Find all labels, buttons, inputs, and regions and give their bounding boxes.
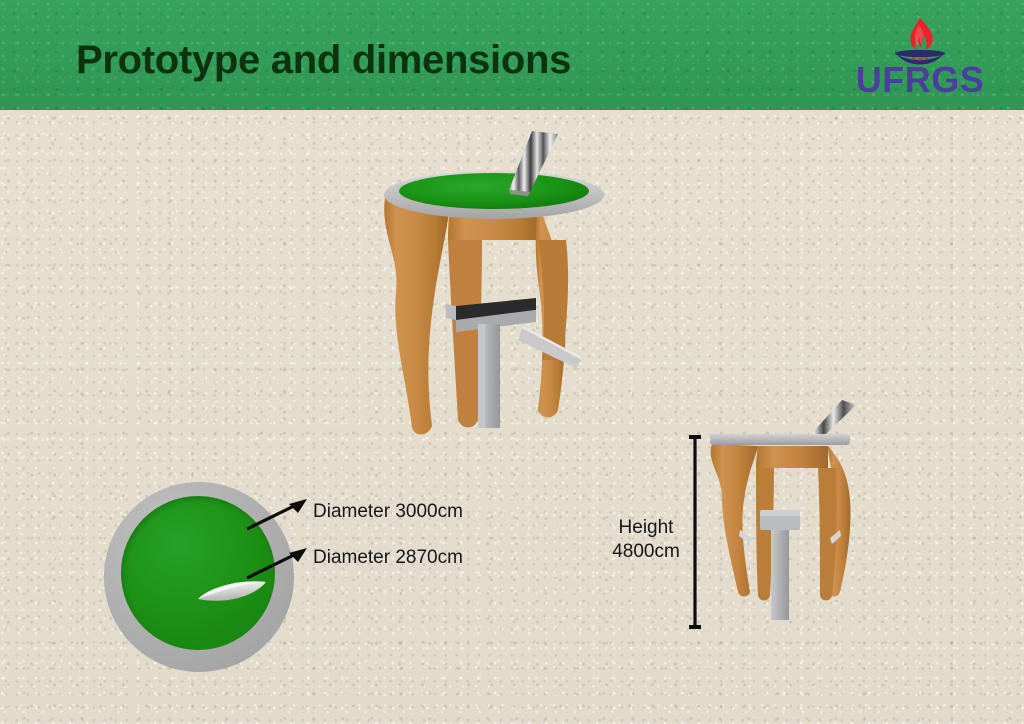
diameter-outer-arrow (245, 495, 315, 533)
ufrgs-logo: UFRGS (845, 16, 995, 98)
height-label-line2: 4800cm (612, 541, 680, 562)
gourd-rim-side (710, 434, 850, 445)
ufrgs-wordmark: UFRGS (845, 62, 995, 98)
prototype-side-view (700, 400, 900, 645)
prototype-perspective-render (370, 128, 620, 453)
slide-header-band: Prototype and dimensions UFRGS (0, 0, 1024, 110)
diameter-inner-arrow (245, 540, 315, 582)
top-view-pipe-cross-section (196, 578, 274, 606)
height-label-line1: Height (619, 517, 674, 538)
height-dimension-line (688, 432, 702, 632)
height-label: Height 4800cm (602, 516, 690, 564)
diameter-inner-label: Diameter 2870cm (313, 546, 463, 570)
diameter-outer-label: Diameter 3000cm (313, 500, 463, 524)
slide-canvas: Prototype and dimensions UFRGS (0, 0, 1024, 724)
gourd-rim (384, 171, 604, 219)
page-title: Prototype and dimensions (76, 38, 571, 83)
